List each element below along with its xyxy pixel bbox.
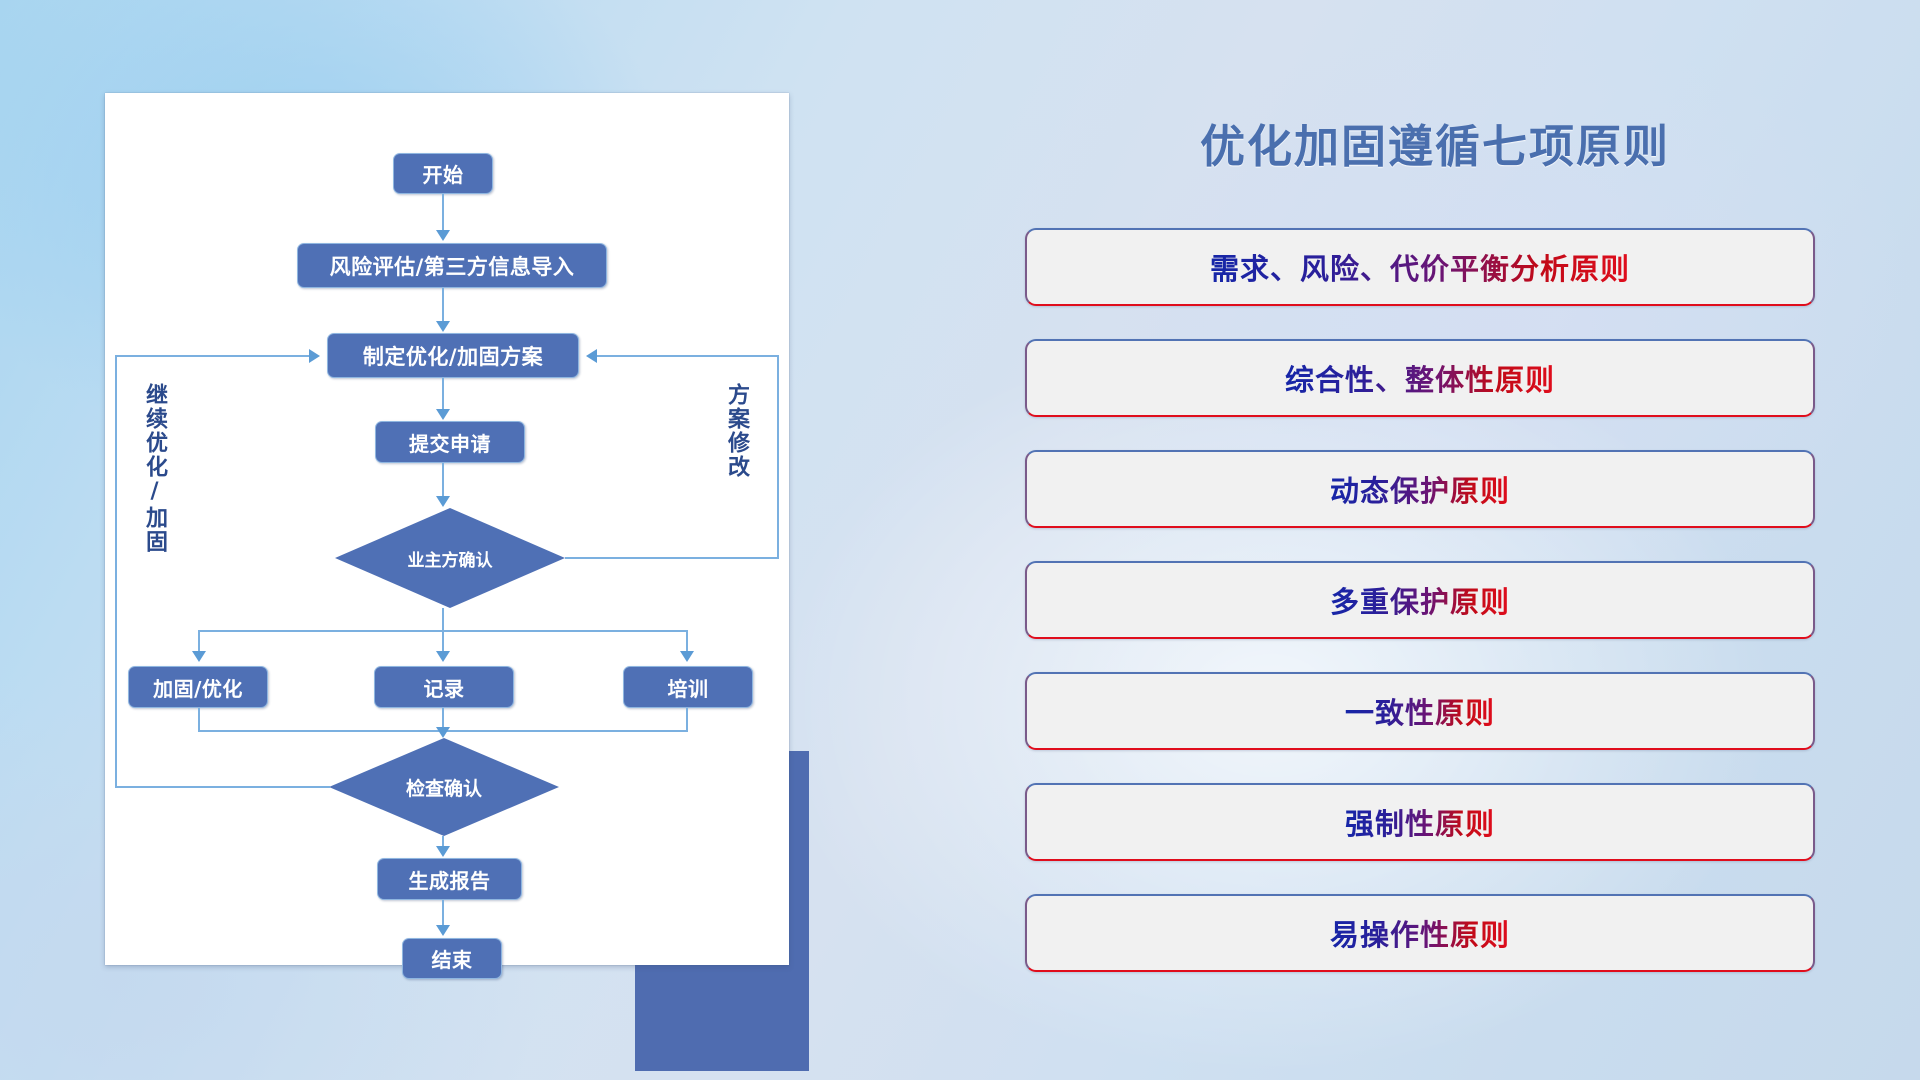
connector-bus-to-training: [686, 630, 688, 653]
arrowhead-right-icon: [309, 349, 320, 363]
principle-list: 需求、风险、代价平衡分析原则 综合性、整体性原则 动态保护原则 多重保护原则 一…: [1025, 228, 1815, 1005]
principle-label: 强制性原则: [1345, 801, 1495, 843]
flowchart-card: 开始 风险评估/第三方信息导入 制定优化/加固方案 提交申请 业主方确认 加固/…: [105, 93, 789, 965]
arrowhead-down-icon: [436, 846, 450, 857]
flow-node-start[interactable]: 开始: [393, 153, 493, 194]
principle-item-4[interactable]: 多重保护原则: [1025, 561, 1815, 639]
connector-reinforce-to-fanin: [198, 708, 200, 732]
arrowhead-down-icon: [436, 925, 450, 936]
flow-node-check-confirm[interactable]: 检查确认: [329, 738, 559, 836]
arrowhead-down-icon: [436, 409, 450, 420]
flow-node-label: 提交申请: [409, 428, 491, 457]
flow-node-label: 开始: [423, 159, 464, 188]
connector-report-to-end: [442, 900, 444, 926]
flow-node-label: 风险评估/第三方信息导入: [330, 251, 575, 281]
flow-node-risk-assessment[interactable]: 风险评估/第三方信息导入: [297, 243, 607, 288]
page-title: 优化加固遵循七项原则: [1020, 110, 1850, 175]
connector-submit-to-owner: [442, 463, 444, 497]
flow-node-label: 记录: [424, 673, 465, 702]
principle-item-7[interactable]: 易操作性原则: [1025, 894, 1815, 972]
principle-label: 综合性、整体性原则: [1285, 357, 1555, 399]
principle-label: 易操作性原则: [1330, 912, 1510, 954]
flow-node-record[interactable]: 记录: [374, 666, 514, 708]
connector-owner-feedback-h-top: [597, 355, 779, 357]
flow-node-end[interactable]: 结束: [402, 938, 502, 979]
edge-label-plan-revision: 方案修改: [725, 383, 747, 479]
arrowhead-down-icon: [192, 651, 206, 662]
principle-item-2[interactable]: 综合性、整体性原则: [1025, 339, 1815, 417]
connector-owner-feedback-h-bottom: [565, 557, 779, 559]
flow-node-owner-confirm[interactable]: 业主方确认: [335, 508, 565, 608]
arrowhead-down-icon: [436, 651, 450, 662]
flow-node-label: 结束: [432, 944, 473, 973]
flow-node-label: 加固/优化: [153, 673, 243, 702]
principle-label: 一致性原则: [1345, 690, 1495, 732]
principle-item-1[interactable]: 需求、风险、代价平衡分析原则: [1025, 228, 1815, 306]
arrowhead-down-icon: [436, 230, 450, 241]
arrowhead-down-icon: [680, 651, 694, 662]
arrowhead-down-icon: [436, 496, 450, 507]
arrowhead-down-icon: [436, 727, 450, 738]
flow-node-make-plan[interactable]: 制定优化/加固方案: [327, 333, 579, 378]
flow-node-reinforce[interactable]: 加固/优化: [128, 666, 268, 708]
flow-node-generate-report[interactable]: 生成报告: [377, 858, 522, 900]
arrowhead-left-icon: [586, 349, 597, 363]
connector-check-feedback-h-top: [115, 355, 309, 357]
slide-canvas: 开始 风险评估/第三方信息导入 制定优化/加固方案 提交申请 业主方确认 加固/…: [0, 0, 1920, 1080]
flow-node-label: 制定优化/加固方案: [363, 341, 543, 371]
principle-label: 需求、风险、代价平衡分析原则: [1210, 246, 1630, 288]
principle-item-3[interactable]: 动态保护原则: [1025, 450, 1815, 528]
flow-node-label: 业主方确认: [408, 546, 493, 571]
connector-plan-to-submit: [442, 378, 444, 410]
connector-training-to-fanin: [686, 708, 688, 732]
connector-check-feedback-h-bottom: [115, 786, 330, 788]
connector-bus-to-record: [442, 630, 444, 653]
flow-node-label: 检查确认: [406, 774, 482, 801]
principle-item-6[interactable]: 强制性原则: [1025, 783, 1815, 861]
flow-node-training[interactable]: 培训: [623, 666, 753, 708]
arrowhead-down-icon: [436, 321, 450, 332]
flow-node-label: 培训: [668, 673, 709, 702]
flowchart-panel: 开始 风险评估/第三方信息导入 制定优化/加固方案 提交申请 业主方确认 加固/…: [105, 93, 789, 965]
connector-owner-feedback-v: [777, 355, 779, 559]
connector-risk-to-plan: [442, 288, 444, 322]
principles-panel: 优化加固遵循七项原则 需求、风险、代价平衡分析原则 综合性、整体性原则 动态保护…: [1020, 0, 1850, 1080]
connector-bus-to-reinforce: [198, 630, 200, 653]
flow-node-submit-application[interactable]: 提交申请: [375, 421, 525, 463]
connector-start-to-risk: [442, 194, 444, 232]
connector-owner-to-bus: [442, 608, 444, 631]
connector-check-feedback-v: [115, 355, 117, 788]
principle-label: 多重保护原则: [1330, 579, 1510, 621]
flow-node-label: 生成报告: [409, 865, 491, 894]
principle-item-5[interactable]: 一致性原则: [1025, 672, 1815, 750]
edge-label-continue-optimize: 继续优化/加固: [143, 383, 165, 554]
principle-label: 动态保护原则: [1330, 468, 1510, 510]
